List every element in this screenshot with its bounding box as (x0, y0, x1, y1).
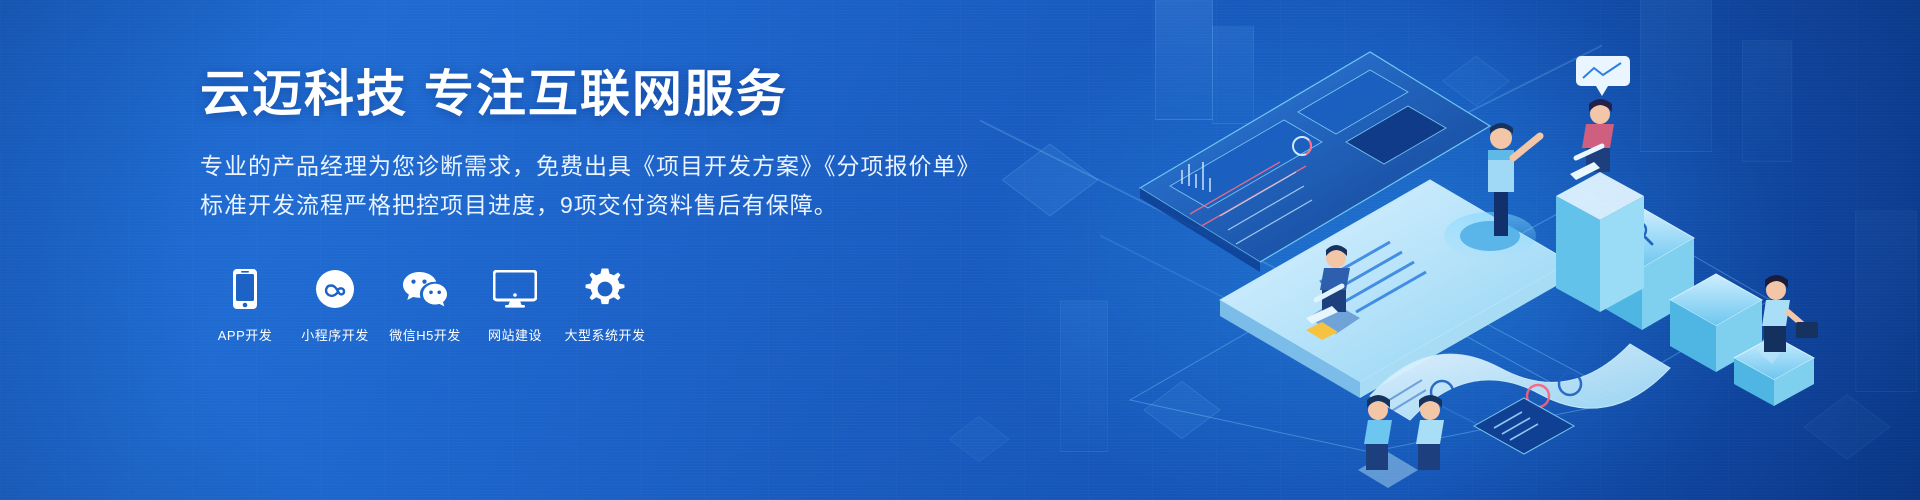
illustration-person-pillar (1556, 56, 1644, 312)
service-label: 小程序开发 (301, 325, 369, 344)
subtitle-line-2: 标准开发流程严格把控项目进度，9项交付资料售后有保障。 (200, 187, 940, 224)
subtitle-line-1: 专业的产品经理为您诊断需求，免费出具《项目开发方案》《分项报价单》 (200, 148, 940, 185)
banner-content: 云迈科技 专注互联网服务 专业的产品经理为您诊断需求，免费出具《项目开发方案》《… (200, 66, 940, 344)
service-list: APP开发 小程序开发 (200, 267, 940, 344)
service-item-wechat-h5[interactable]: 微信H5开发 (380, 267, 470, 344)
service-label: 大型系统开发 (564, 325, 645, 344)
hero-illustration (1070, 0, 1830, 500)
service-item-website[interactable]: 网站建设 (470, 267, 560, 344)
service-label: 微信H5开发 (389, 325, 461, 344)
hero-banner: 云迈科技 专注互联网服务 专业的产品经理为您诊断需求，免费出具《项目开发方案》《… (0, 0, 1920, 500)
mini-program-icon (315, 267, 355, 311)
service-item-large-system[interactable]: 大型系统开发 (560, 267, 650, 344)
service-label: APP开发 (218, 325, 273, 344)
service-item-miniprogram[interactable]: 小程序开发 (290, 267, 380, 344)
wechat-icon (402, 267, 448, 311)
monitor-icon (493, 267, 537, 311)
page-title: 云迈科技 专注互联网服务 (200, 66, 940, 122)
service-item-app[interactable]: APP开发 (200, 267, 290, 344)
mobile-phone-icon (232, 267, 258, 311)
illustration-floating-panel (1474, 398, 1574, 454)
service-label: 网站建设 (488, 325, 542, 344)
gear-icon (584, 267, 626, 311)
